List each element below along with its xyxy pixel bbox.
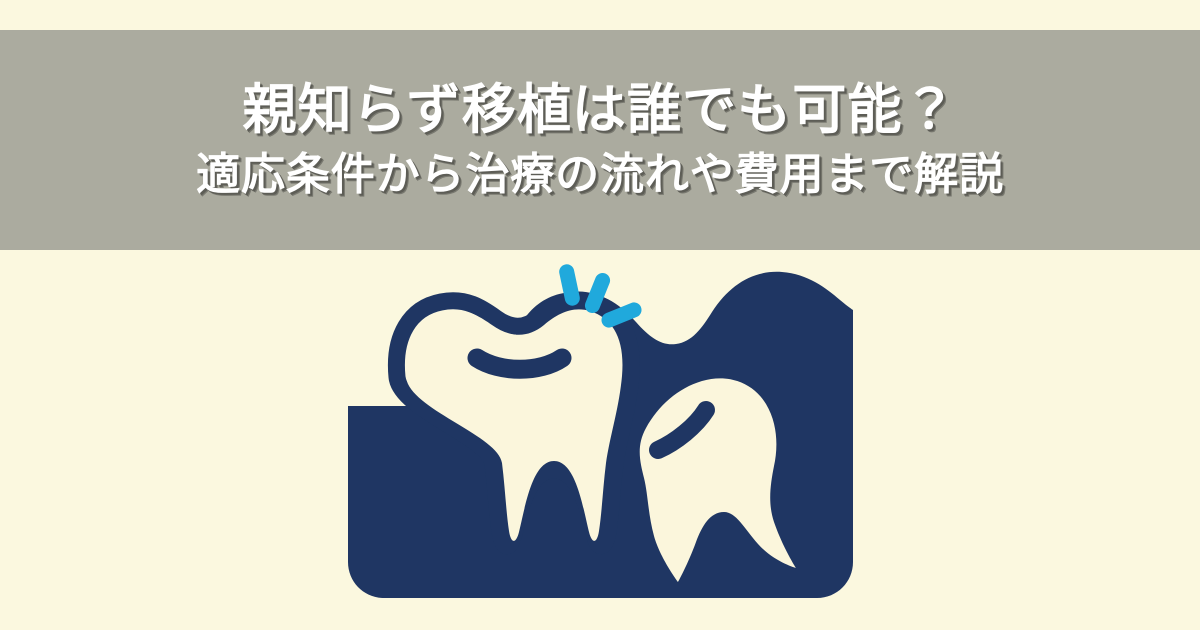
- wisdom-tooth-illustration: [340, 250, 860, 610]
- ogp-banner: 親知らず移植は誰でも可能？ 適応条件から治療の流れや費用まで解説: [0, 0, 1200, 630]
- page-title-line-1: 親知らず移植は誰でも可能？: [243, 79, 958, 143]
- illustration-container: [0, 250, 1200, 630]
- title-band: 親知らず移植は誰でも可能？ 適応条件から治療の流れや費用まで解説: [0, 30, 1200, 250]
- page-title-line-2: 適応条件から治療の流れや費用まで解説: [196, 149, 1004, 201]
- top-background-strip: [0, 0, 1200, 30]
